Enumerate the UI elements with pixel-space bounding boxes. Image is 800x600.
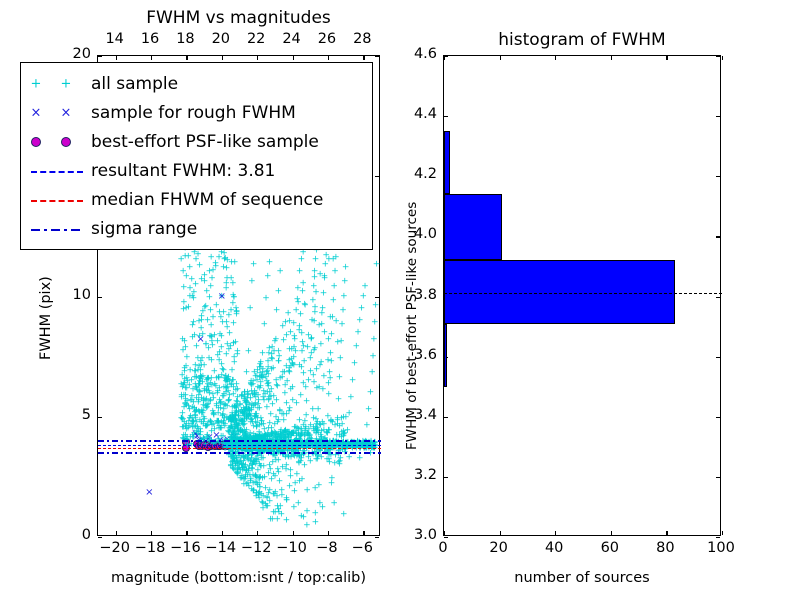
all-sample-point: + <box>268 354 276 363</box>
all-sample-point: + <box>220 417 228 426</box>
all-sample-point: + <box>235 412 243 421</box>
all-sample-point: + <box>233 459 241 468</box>
all-sample-point: + <box>198 276 206 285</box>
left-xaxis-label: magnitude (bottom:isnt / top:calib) <box>97 570 380 586</box>
all-sample-point: + <box>265 431 273 440</box>
all-sample-point: + <box>254 467 262 476</box>
all-sample-point: + <box>286 318 294 327</box>
all-sample-point: + <box>251 391 259 400</box>
all-sample-point: + <box>281 428 289 437</box>
all-sample-point: + <box>311 442 319 451</box>
legend-entry-label: median FHWM of sequence <box>91 190 323 210</box>
all-sample-point: + <box>271 453 279 462</box>
all-sample-point: + <box>304 343 312 352</box>
all-sample-point: + <box>191 380 199 389</box>
all-sample-point: + <box>266 442 274 451</box>
all-sample-point: + <box>180 381 188 390</box>
all-sample-point: + <box>201 304 209 313</box>
all-sample-point: + <box>200 435 208 444</box>
all-sample-point: + <box>229 454 237 463</box>
all-sample-point: + <box>223 414 231 423</box>
legend-marker-sample <box>29 190 91 210</box>
all-sample-point: + <box>222 376 230 385</box>
all-sample-point: + <box>220 308 228 317</box>
all-sample-point: + <box>240 407 248 416</box>
all-sample-point: + <box>265 379 273 388</box>
all-sample-point: + <box>197 429 205 438</box>
all-sample-point: + <box>180 305 188 314</box>
right-xaxis-label: number of sources <box>443 570 721 586</box>
all-sample-point: + <box>268 429 276 438</box>
all-sample-point: + <box>219 420 227 429</box>
all-sample-point: + <box>253 376 261 385</box>
all-sample-point: + <box>194 423 202 432</box>
resultant-fwhm-line <box>444 293 722 294</box>
all-sample-point: + <box>259 475 267 484</box>
all-sample-point: + <box>244 392 252 401</box>
all-sample-point: + <box>239 410 247 419</box>
all-sample-point: + <box>302 384 310 393</box>
all-sample-point: + <box>208 427 216 436</box>
all-sample-point: + <box>295 431 303 440</box>
all-sample-point: + <box>335 459 343 468</box>
all-sample-point: + <box>218 418 226 427</box>
all-sample-point: + <box>287 453 295 462</box>
all-sample-point: + <box>202 341 210 350</box>
all-sample-point: + <box>336 460 344 469</box>
all-sample-point: + <box>286 483 294 492</box>
all-sample-point: + <box>238 462 246 471</box>
all-sample-point: + <box>262 501 270 510</box>
all-sample-point: + <box>268 344 276 353</box>
all-sample-point: + <box>312 429 320 438</box>
all-sample-point: + <box>340 510 348 519</box>
all-sample-point: + <box>213 375 221 384</box>
all-sample-point: + <box>227 425 235 434</box>
all-sample-point: + <box>258 373 266 382</box>
all-sample-point: + <box>323 429 331 438</box>
all-sample-point: + <box>196 416 204 425</box>
all-sample-point: + <box>242 400 250 409</box>
all-sample-point: + <box>288 430 296 439</box>
all-sample-point: + <box>180 391 188 400</box>
all-sample-point: + <box>276 407 284 416</box>
all-sample-point: + <box>250 430 258 439</box>
all-sample-point: + <box>259 368 267 377</box>
all-sample-point: + <box>224 375 232 384</box>
all-sample-point: + <box>357 442 365 451</box>
all-sample-point: + <box>316 270 324 279</box>
all-sample-point: + <box>255 429 263 438</box>
all-sample-point: + <box>312 518 320 527</box>
all-sample-point: + <box>337 454 345 463</box>
all-sample-point: + <box>275 353 283 362</box>
all-sample-point: + <box>226 330 234 339</box>
all-sample-point: + <box>253 455 261 464</box>
all-sample-point: + <box>340 430 348 439</box>
left-yaxis-label: FWHM (pix) <box>38 276 54 360</box>
all-sample-point: + <box>247 457 255 466</box>
matplotlib-figure: FWHM vs magnitudes 1416182022242628 −20−… <box>0 0 800 600</box>
all-sample-point: + <box>249 378 257 387</box>
all-sample-point: + <box>197 375 205 384</box>
all-sample-point: + <box>225 416 233 425</box>
all-sample-point: + <box>249 381 257 390</box>
all-sample-point: + <box>245 482 253 491</box>
all-sample-point: + <box>238 406 246 415</box>
all-sample-point: + <box>188 393 196 402</box>
all-sample-point: + <box>233 454 241 463</box>
all-sample-point: + <box>306 355 314 364</box>
all-sample-point: + <box>321 328 329 337</box>
all-sample-point: + <box>204 381 212 390</box>
all-sample-point: + <box>336 374 344 383</box>
all-sample-point: + <box>290 361 298 370</box>
all-sample-point: + <box>291 424 299 433</box>
all-sample-point: + <box>250 261 258 270</box>
all-sample-point: + <box>247 419 255 428</box>
all-sample-point: + <box>239 428 247 437</box>
all-sample-point: + <box>196 261 204 270</box>
y-tick-right <box>716 477 720 478</box>
all-sample-point: + <box>180 284 188 293</box>
all-sample-point: + <box>242 454 250 463</box>
all-sample-point: + <box>277 427 285 436</box>
all-sample-point: + <box>244 411 252 420</box>
all-sample-point: + <box>199 372 207 381</box>
all-sample-point: + <box>306 458 314 467</box>
all-sample-point: + <box>234 399 242 408</box>
all-sample-point: + <box>252 461 260 470</box>
x-tick-label-bottom: 80 <box>645 540 685 556</box>
all-sample-point: + <box>217 425 225 434</box>
all-sample-point: + <box>188 396 196 405</box>
all-sample-point: + <box>199 420 207 429</box>
legend-marker-sample <box>29 161 91 181</box>
all-sample-point: + <box>327 350 335 359</box>
right-histogram-axes[interactable] <box>443 55 721 536</box>
all-sample-point: + <box>354 328 362 337</box>
all-sample-point: + <box>177 381 185 390</box>
all-sample-point: + <box>233 421 241 430</box>
all-sample-point: + <box>277 429 285 438</box>
all-sample-point: + <box>190 405 198 414</box>
all-sample-point: + <box>256 374 264 383</box>
all-sample-point: + <box>249 402 257 411</box>
all-sample-point: + <box>289 359 297 368</box>
all-sample-point: + <box>221 420 229 429</box>
all-sample-point: + <box>190 424 198 433</box>
all-sample-point: + <box>252 389 260 398</box>
all-sample-point: + <box>253 474 261 483</box>
all-sample-point: + <box>275 469 283 478</box>
all-sample-point: + <box>183 353 191 362</box>
all-sample-point: + <box>230 414 238 423</box>
all-sample-point: + <box>298 347 306 356</box>
all-sample-point: + <box>276 375 284 384</box>
all-sample-point: + <box>188 376 196 385</box>
all-sample-point: + <box>203 383 211 392</box>
all-sample-point: + <box>278 442 286 451</box>
all-sample-point: + <box>247 377 255 386</box>
all-sample-point: + <box>190 294 198 303</box>
all-sample-point: + <box>206 333 214 342</box>
all-sample-point: + <box>303 398 311 407</box>
all-sample-point: + <box>310 442 318 451</box>
all-sample-point: + <box>335 395 343 404</box>
all-sample-point: + <box>199 407 207 416</box>
all-sample-point: + <box>236 442 244 451</box>
plus-marker-icon: + <box>31 77 42 90</box>
all-sample-point: + <box>253 372 261 381</box>
all-sample-point: + <box>205 419 213 428</box>
all-sample-point: + <box>242 481 250 490</box>
all-sample-point: + <box>231 463 239 472</box>
all-sample-point: + <box>278 373 286 382</box>
all-sample-point: + <box>190 318 198 327</box>
legend-marker-sample: ×× <box>29 103 91 123</box>
all-sample-point: + <box>288 430 296 439</box>
all-sample-point: + <box>262 294 270 303</box>
circle-marker-icon <box>61 137 71 147</box>
all-sample-point: + <box>330 282 338 291</box>
all-sample-point: + <box>254 481 262 490</box>
all-sample-point: + <box>205 387 213 396</box>
all-sample-point: + <box>229 377 237 386</box>
all-sample-point: + <box>311 345 319 354</box>
all-sample-point: + <box>310 378 318 387</box>
all-sample-point: + <box>242 442 250 451</box>
all-sample-point: + <box>237 467 245 476</box>
all-sample-point: + <box>244 455 252 464</box>
all-sample-point: + <box>311 268 319 277</box>
all-sample-point: + <box>248 407 256 416</box>
all-sample-point: + <box>282 466 290 475</box>
all-sample-point: + <box>321 274 329 283</box>
all-sample-point: + <box>234 458 242 467</box>
all-sample-point: + <box>193 385 201 394</box>
all-sample-point: + <box>271 429 279 438</box>
all-sample-point: + <box>248 461 256 470</box>
all-sample-point: + <box>219 393 227 402</box>
all-sample-point: + <box>249 391 257 400</box>
all-sample-point: + <box>207 306 215 315</box>
all-sample-point: + <box>298 256 306 265</box>
all-sample-point: + <box>259 500 267 509</box>
all-sample-point: + <box>252 459 260 468</box>
all-sample-point: + <box>230 383 238 392</box>
all-sample-point: + <box>312 423 320 432</box>
all-sample-point: + <box>314 430 322 439</box>
all-sample-point: + <box>238 417 246 426</box>
all-sample-point: + <box>243 426 251 435</box>
all-sample-point: + <box>220 402 228 411</box>
all-sample-point: + <box>299 249 307 258</box>
all-sample-point: + <box>319 304 327 313</box>
all-sample-point: + <box>203 287 211 296</box>
all-sample-point: + <box>247 412 255 421</box>
all-sample-point: + <box>264 389 272 398</box>
all-sample-point: + <box>181 400 189 409</box>
all-sample-point: + <box>241 464 249 473</box>
all-sample-point: + <box>243 413 251 422</box>
all-sample-point: + <box>292 431 300 440</box>
x-tick-label-bottom: −12 <box>238 540 274 556</box>
all-sample-point: + <box>285 431 293 440</box>
all-sample-point: + <box>240 404 248 413</box>
all-sample-point: + <box>210 394 218 403</box>
all-sample-point: + <box>235 453 243 462</box>
all-sample-point: + <box>240 480 248 489</box>
all-sample-point: + <box>331 268 339 277</box>
all-sample-point: + <box>230 453 238 462</box>
all-sample-point: + <box>189 386 197 395</box>
x-tick-bottom <box>722 531 723 535</box>
all-sample-point: + <box>197 373 205 382</box>
all-sample-point: + <box>314 427 322 436</box>
all-sample-point: + <box>228 459 236 468</box>
all-sample-point: + <box>214 387 222 396</box>
all-sample-point: + <box>220 391 228 400</box>
all-sample-point: + <box>300 357 308 366</box>
all-sample-point: + <box>207 322 215 331</box>
all-sample-point: + <box>257 473 265 482</box>
all-sample-point: + <box>278 486 286 495</box>
all-sample-point: + <box>191 412 199 421</box>
all-sample-point: + <box>256 432 264 441</box>
all-sample-point: + <box>223 274 231 283</box>
all-sample-point: + <box>231 358 239 367</box>
all-sample-point: + <box>217 424 225 433</box>
right-yaxis-label: FWHM of best-effort PSF-like sources <box>404 202 420 450</box>
all-sample-point: + <box>241 410 249 419</box>
x-tick-top <box>328 56 329 60</box>
all-sample-point: + <box>266 258 274 267</box>
all-sample-point: + <box>305 332 313 341</box>
all-sample-point: + <box>365 405 373 414</box>
all-sample-point: + <box>301 417 309 426</box>
all-sample-point: + <box>241 397 249 406</box>
all-sample-point: + <box>308 349 316 358</box>
all-sample-point: + <box>192 414 200 423</box>
all-sample-point: + <box>198 316 206 325</box>
all-sample-point: + <box>270 490 278 499</box>
all-sample-point: + <box>222 350 230 359</box>
all-sample-point: + <box>298 364 306 373</box>
all-sample-point: + <box>244 452 252 461</box>
all-sample-point: + <box>191 332 199 341</box>
x-tick-label-top: 20 <box>207 31 235 47</box>
all-sample-point: + <box>229 427 237 436</box>
all-sample-point: + <box>270 471 278 480</box>
all-sample-point: + <box>237 428 245 437</box>
all-sample-point: + <box>340 292 348 301</box>
all-sample-point: + <box>245 347 253 356</box>
all-sample-point: + <box>273 396 281 405</box>
all-sample-point: + <box>297 431 305 440</box>
all-sample-point: + <box>324 356 332 365</box>
rough-fwhm-point: × <box>218 292 226 302</box>
rough-fwhm-point: × <box>196 335 204 345</box>
all-sample-point: + <box>341 278 349 287</box>
all-sample-point: + <box>233 459 241 468</box>
all-sample-point: + <box>225 397 233 406</box>
all-sample-point: + <box>186 366 194 375</box>
all-sample-point: + <box>253 423 261 432</box>
all-sample-point: + <box>294 298 302 307</box>
all-sample-point: + <box>230 416 238 425</box>
all-sample-point: + <box>230 390 238 399</box>
all-sample-point: + <box>240 464 248 473</box>
all-sample-point: + <box>298 513 306 522</box>
all-sample-point: + <box>309 405 317 414</box>
all-sample-point: + <box>351 359 359 368</box>
all-sample-point: + <box>231 426 239 435</box>
all-sample-point: + <box>300 431 308 440</box>
all-sample-point: + <box>250 423 258 432</box>
all-sample-point: + <box>325 426 333 435</box>
y-tick-left <box>98 417 102 418</box>
all-sample-point: + <box>241 435 249 444</box>
all-sample-point: + <box>242 472 250 481</box>
all-sample-point: + <box>274 515 282 524</box>
all-sample-point: + <box>227 462 235 471</box>
all-sample-point: + <box>251 458 259 467</box>
all-sample-point: + <box>260 371 268 380</box>
all-sample-point: + <box>372 302 380 311</box>
all-sample-point: + <box>210 367 218 376</box>
all-sample-point: + <box>200 402 208 411</box>
all-sample-point: + <box>301 462 309 471</box>
x-tick-top <box>500 56 501 60</box>
all-sample-point: + <box>316 362 324 371</box>
all-sample-point: + <box>229 465 237 474</box>
all-sample-point: + <box>320 420 328 429</box>
all-sample-point: + <box>240 458 248 467</box>
all-sample-point: + <box>331 460 339 469</box>
all-sample-point: + <box>263 494 271 503</box>
all-sample-point: + <box>275 509 283 518</box>
all-sample-point: + <box>214 351 222 360</box>
all-sample-point: + <box>259 374 267 383</box>
all-sample-point: + <box>229 430 237 439</box>
all-sample-point: + <box>263 494 271 503</box>
all-sample-point: + <box>238 461 246 470</box>
all-sample-point: + <box>317 422 325 431</box>
all-sample-point: + <box>208 333 216 342</box>
all-sample-point: + <box>195 380 203 389</box>
dashed-line-icon <box>31 200 83 202</box>
all-sample-point: + <box>237 457 245 466</box>
all-sample-point: + <box>221 402 229 411</box>
all-sample-point: + <box>224 442 232 451</box>
all-sample-point: + <box>187 397 195 406</box>
all-sample-point: + <box>249 479 257 488</box>
all-sample-point: + <box>274 419 282 428</box>
all-sample-point: + <box>252 472 260 481</box>
all-sample-point: + <box>181 379 189 388</box>
y-tick-left <box>444 477 448 478</box>
all-sample-point: + <box>283 400 291 409</box>
all-sample-point: + <box>301 432 309 441</box>
all-sample-point: + <box>342 263 350 272</box>
all-sample-point: + <box>198 355 206 364</box>
all-sample-point: + <box>198 395 206 404</box>
all-sample-point: + <box>190 288 198 297</box>
all-sample-point: + <box>201 271 209 280</box>
all-sample-point: + <box>246 410 254 419</box>
all-sample-point: + <box>245 467 253 476</box>
